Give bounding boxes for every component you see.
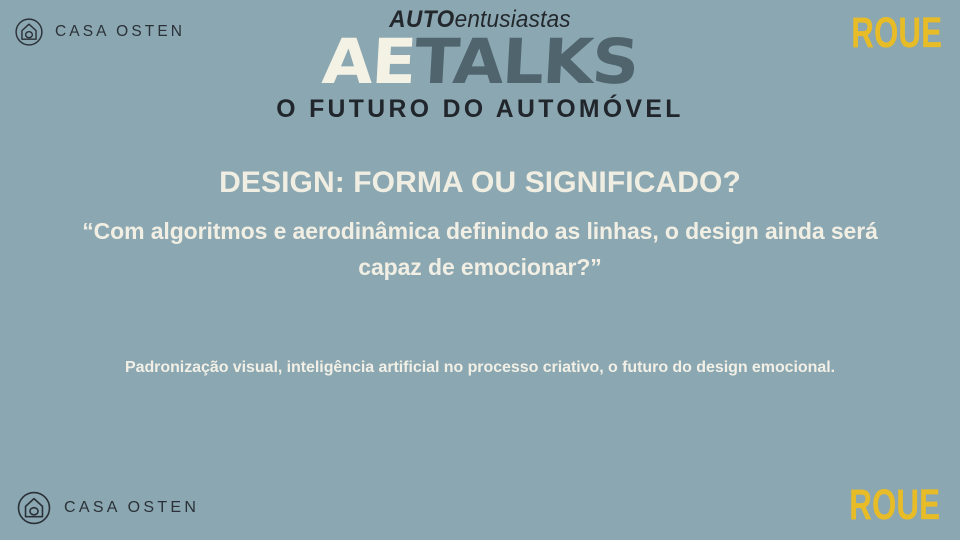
aetalks-logo-ae: AE [320,25,417,98]
aetalks-logo-talks: TALKS [413,25,640,98]
talk-topics: Padronização visual, inteligência artifi… [78,354,882,382]
house-in-circle-icon [16,490,52,526]
roue-logo-bottom: ROUE [849,484,940,527]
event-tagline: O FUTURO DO AUTOMÓVEL [5,96,955,122]
aetalks-logo: AETALKS [0,33,960,92]
event-header: AUTOentusiastas AETALKS O FUTURO DO AUTO… [0,8,960,122]
talk-title: DESIGN: FORMA OU SIGNIFICADO? [40,166,920,200]
casa-osten-logo-bottom: CASA OSTEN [16,490,199,526]
presentation-slide: CASA OSTEN ROUE AUTOentusiastas AETALKS … [0,0,960,540]
casa-osten-wordmark-bottom: CASA OSTEN [64,499,199,517]
talk-quote: “Com algoritmos e aerodinâmica definindo… [62,213,898,286]
